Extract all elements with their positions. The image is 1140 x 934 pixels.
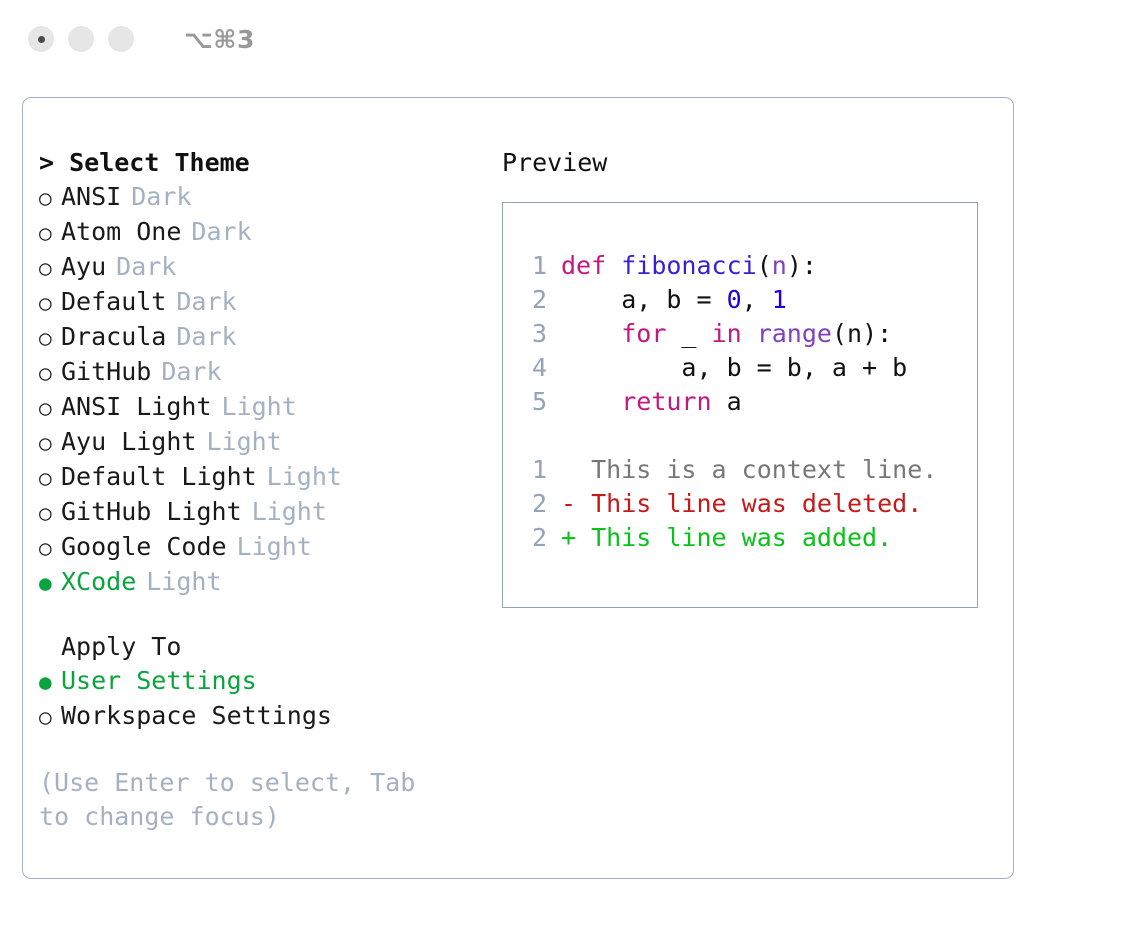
app-window: ⌥⌘3 > Select Theme ○ANSIDark○Atom OneDar…	[0, 0, 1140, 934]
code-token-id: ,	[742, 285, 772, 314]
code-spacer	[521, 419, 977, 453]
theme-option-kind: Dark	[176, 285, 236, 319]
code-token-cls: range	[757, 319, 832, 348]
code-token-id: a, b = b, a + b	[561, 353, 907, 382]
keyboard-shortcut-label: ⌥⌘3	[184, 25, 255, 54]
code-line-content: return a	[561, 385, 742, 419]
theme-option-label: Google Code	[61, 530, 227, 564]
radio-unselected-icon: ○	[39, 251, 61, 285]
code-line-content: def fibonacci(n):	[561, 249, 817, 283]
diff-line-text: This line was deleted.	[591, 489, 922, 518]
code-token-num: 1	[772, 285, 787, 314]
window-button-1[interactable]	[28, 26, 54, 52]
theme-option-github-light[interactable]: ○GitHub LightLight	[39, 495, 489, 530]
code-line-content: a, b = 0, 1	[561, 283, 787, 317]
theme-option-xcode[interactable]: ●XCodeLight	[39, 565, 489, 600]
code-line: 4 a, b = b, a + b	[521, 351, 977, 385]
code-token-id	[742, 319, 757, 348]
theme-option-label: ANSI Light	[61, 390, 212, 424]
theme-option-default[interactable]: ○DefaultDark	[39, 285, 489, 320]
code-token-fn: fibonacci	[621, 251, 756, 280]
radio-unselected-icon: ○	[39, 356, 61, 390]
diff-marker: +	[561, 523, 576, 552]
apply-to-option-label: User Settings	[61, 664, 257, 698]
radio-unselected-icon: ○	[39, 216, 61, 250]
radio-unselected-icon: ○	[39, 461, 61, 495]
code-line: 2 a, b = 0, 1	[521, 283, 977, 317]
radio-unselected-icon: ○	[39, 496, 61, 530]
code-token-plain	[561, 319, 621, 348]
theme-option-kind: Dark	[161, 355, 221, 389]
radio-unselected-icon: ○	[39, 531, 61, 565]
diff-line-content: This is a context line.	[561, 453, 937, 487]
theme-option-kind: Light	[252, 495, 327, 529]
diff-line-text: This line was added.	[591, 523, 892, 552]
apply-to-header: Apply To	[39, 630, 489, 664]
code-line-number: 2	[521, 283, 547, 317]
diff-marker	[561, 455, 576, 484]
theme-option-kind: Light	[206, 425, 281, 459]
diff-sample: 1 This is a context line.2- This line wa…	[521, 453, 977, 555]
code-line-number: 5	[521, 385, 547, 419]
theme-option-kind: Light	[146, 565, 221, 599]
radio-unselected-icon: ○	[39, 321, 61, 355]
code-token-plain	[561, 387, 621, 416]
preview-title: Preview	[502, 146, 997, 180]
theme-picker-panel: > Select Theme ○ANSIDark○Atom OneDark○Ay…	[22, 97, 1014, 879]
code-line: 1def fibonacci(n):	[521, 249, 977, 283]
theme-option-kind: Dark	[191, 215, 251, 249]
apply-to-option-workspace-settings[interactable]: ○Workspace Settings	[39, 699, 489, 734]
theme-option-label: ANSI	[61, 180, 121, 214]
preview-column: Preview 1def fibonacci(n):2 a, b = 0, 13…	[502, 146, 997, 608]
theme-option-default-light[interactable]: ○Default LightLight	[39, 460, 489, 495]
theme-option-kind: Dark	[116, 250, 176, 284]
theme-option-label: Ayu	[61, 250, 106, 284]
code-token-id: a	[712, 387, 742, 416]
code-token-kw: def	[561, 251, 621, 280]
preview-box: 1def fibonacci(n):2 a, b = 0, 13 for _ i…	[502, 202, 978, 608]
theme-option-atom-one[interactable]: ○Atom OneDark	[39, 215, 489, 250]
theme-option-kind: Light	[237, 530, 312, 564]
code-token-id: a, b =	[561, 285, 727, 314]
diff-line: 1 This is a context line.	[521, 453, 977, 487]
code-token-kw: return	[621, 387, 711, 416]
theme-selection-column: > Select Theme ○ANSIDark○Atom OneDark○Ay…	[39, 146, 489, 834]
theme-option-label: Default Light	[61, 460, 257, 494]
code-token-plain: ):	[787, 251, 817, 280]
theme-option-dracula[interactable]: ○DraculaDark	[39, 320, 489, 355]
theme-option-label: Atom One	[61, 215, 181, 249]
theme-option-google-code[interactable]: ○Google CodeLight	[39, 530, 489, 565]
diff-line-text: This is a context line.	[591, 455, 937, 484]
apply-to-option-label: Workspace Settings	[61, 699, 332, 733]
diff-line-number: 2	[521, 521, 547, 555]
theme-option-label: Default	[61, 285, 166, 319]
code-line-number: 4	[521, 351, 547, 385]
select-theme-header: > Select Theme	[39, 146, 489, 180]
theme-option-kind: Dark	[131, 180, 191, 214]
theme-option-github[interactable]: ○GitHubDark	[39, 355, 489, 390]
radio-selected-icon: ●	[39, 665, 61, 699]
code-sample: 1def fibonacci(n):2 a, b = 0, 13 for _ i…	[521, 249, 977, 419]
apply-to-section: Apply To ●User Settings○Workspace Settin…	[39, 630, 489, 734]
code-token-plain: (	[757, 251, 772, 280]
code-line-content: a, b = b, a + b	[561, 351, 907, 385]
apply-to-option-list: ●User Settings○Workspace Settings	[39, 664, 489, 734]
apply-to-option-user-settings[interactable]: ●User Settings	[39, 664, 489, 699]
radio-unselected-icon: ○	[39, 286, 61, 320]
theme-option-kind: Light	[222, 390, 297, 424]
code-line-content: for _ in range(n):	[561, 317, 892, 351]
theme-option-label: GitHub	[61, 355, 151, 389]
theme-option-label: Ayu Light	[61, 425, 196, 459]
radio-unselected-icon: ○	[39, 700, 61, 734]
code-token-num: 0	[727, 285, 742, 314]
code-line-number: 3	[521, 317, 547, 351]
theme-option-label: GitHub Light	[61, 495, 242, 529]
radio-selected-icon: ●	[39, 566, 61, 600]
theme-option-label: Dracula	[61, 320, 166, 354]
diff-marker: -	[561, 489, 576, 518]
code-line: 3 for _ in range(n):	[521, 317, 977, 351]
theme-option-label: XCode	[61, 565, 136, 599]
window-button-1-dot	[38, 36, 45, 43]
window-titlebar: ⌥⌘3	[0, 0, 1140, 78]
panel-columns: > Select Theme ○ANSIDark○Atom OneDark○Ay…	[23, 98, 1013, 878]
radio-unselected-icon: ○	[39, 181, 61, 215]
theme-option-ansi-light[interactable]: ○ANSI LightLight	[39, 390, 489, 425]
code-token-plain: (n):	[832, 319, 892, 348]
theme-option-ansi[interactable]: ○ANSIDark	[39, 180, 489, 215]
code-token-cls: n	[772, 251, 787, 280]
diff-line-number: 1	[521, 453, 547, 487]
theme-option-kind: Dark	[176, 320, 236, 354]
code-line: 5 return a	[521, 385, 977, 419]
window-button-2[interactable]	[68, 26, 94, 52]
keyboard-hint-text: (Use Enter to select, Tab to change focu…	[39, 766, 439, 834]
radio-unselected-icon: ○	[39, 426, 61, 460]
code-token-id: _	[666, 319, 711, 348]
diff-line: 2- This line was deleted.	[521, 487, 977, 521]
code-token-kw: in	[712, 319, 742, 348]
diff-line-number: 2	[521, 487, 547, 521]
theme-option-list: ○ANSIDark○Atom OneDark○AyuDark○DefaultDa…	[39, 180, 489, 600]
diff-line-content: - This line was deleted.	[561, 487, 922, 521]
diff-line: 2+ This line was added.	[521, 521, 977, 555]
radio-unselected-icon: ○	[39, 391, 61, 425]
theme-option-kind: Light	[267, 460, 342, 494]
window-button-3[interactable]	[108, 26, 134, 52]
diff-line-content: + This line was added.	[561, 521, 892, 555]
theme-option-ayu-light[interactable]: ○Ayu LightLight	[39, 425, 489, 460]
code-token-kw: for	[621, 319, 666, 348]
code-line-number: 1	[521, 249, 547, 283]
theme-option-ayu[interactable]: ○AyuDark	[39, 250, 489, 285]
